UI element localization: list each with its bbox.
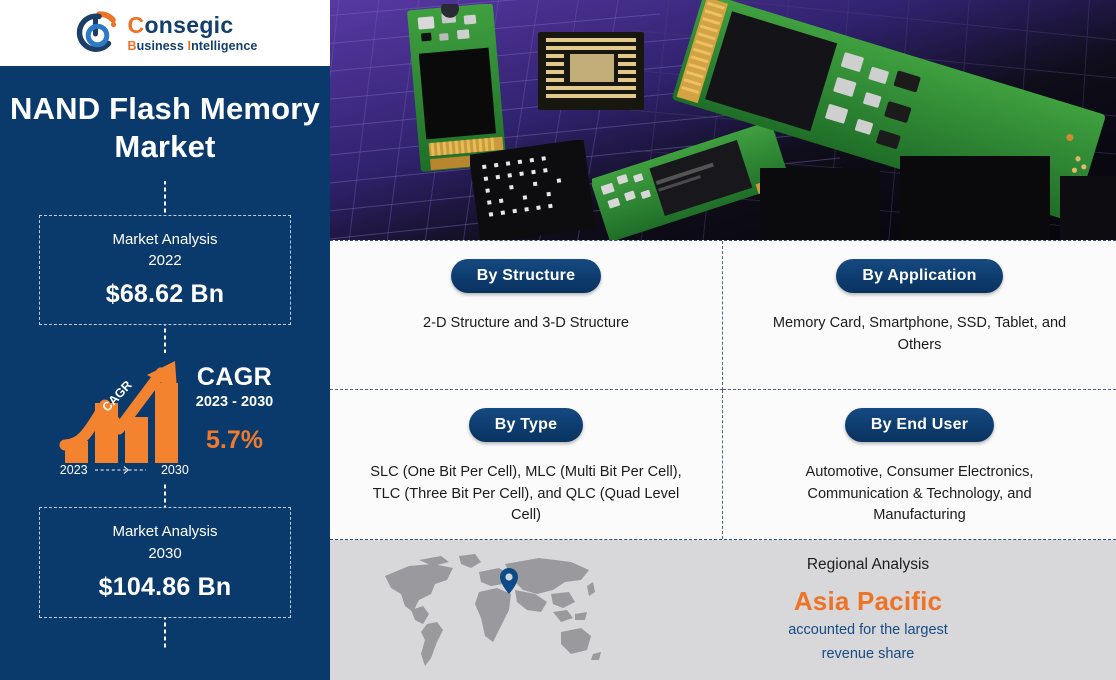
brand-name-rest: onsegic: [144, 12, 233, 38]
leading-region-name: Asia Pacific: [660, 586, 1076, 617]
map-pin-icon: [500, 568, 518, 594]
tagline-ntelligence: ntelligence: [191, 39, 257, 53]
connector-dots-1: [164, 181, 166, 215]
world-map-icon: [375, 550, 615, 670]
segmentation-grid: By Structure 2-D Structure and 3-D Struc…: [330, 240, 1116, 540]
consegic-b-logo-icon: [73, 10, 119, 56]
tagline-b: B: [128, 39, 137, 53]
regional-analysis-text: Regional Analysis Asia Pacific accounted…: [660, 556, 1116, 664]
leading-region-note-line2: revenue share: [660, 644, 1076, 665]
leading-region-note-line1: accounted for the largest: [660, 620, 1076, 641]
regional-analysis-section: Regional Analysis Asia Pacific accounted…: [330, 540, 1116, 680]
segment-desc-end-user: Automotive, Consumer Electronics, Commun…: [760, 462, 1080, 527]
brand-wordmark: Consegic Business Intelligence: [128, 14, 258, 53]
regional-analysis-title: Regional Analysis: [660, 556, 1076, 574]
forecast-year-label: Market Analysis: [46, 521, 284, 542]
segment-card-structure: By Structure 2-D Structure and 3-D Struc…: [330, 241, 723, 390]
brand-tagline: Business Intelligence: [128, 40, 258, 53]
left-summary-column: Consegic Business Intelligence NAND Flas…: [0, 0, 330, 680]
segment-card-end-user: By End User Automotive, Consumer Electro…: [723, 390, 1116, 539]
connector-dots-2: [164, 325, 166, 353]
segment-desc-structure: 2-D Structure and 3-D Structure: [423, 313, 629, 335]
segment-card-application: By Application Memory Card, Smartphone, …: [723, 241, 1116, 390]
cagr-axis-start: 2023: [60, 463, 88, 477]
page-title: NAND Flash Memory Market: [0, 90, 330, 167]
cagr-arrow-icon: [94, 465, 154, 475]
segment-pill-end-user[interactable]: By End User: [845, 408, 994, 442]
segment-pill-application[interactable]: By Application: [836, 259, 1002, 293]
brand-name: Consegic: [128, 14, 258, 37]
segment-desc-type: SLC (One Bit Per Cell), MLC (Multi Bit P…: [366, 462, 686, 527]
segment-card-type: By Type SLC (One Bit Per Cell), MLC (Mul…: [330, 390, 723, 539]
segment-desc-application: Memory Card, Smartphone, SSD, Tablet, an…: [760, 313, 1080, 356]
forecast-year-value: $104.86 Bn: [46, 573, 284, 602]
connector-dots-4: [164, 618, 166, 648]
base-year-stat-box: Market Analysis 2022 $68.62 Bn: [39, 215, 291, 326]
flash-die-dark: [470, 140, 600, 240]
hero-image: [330, 0, 1116, 240]
cagr-period: 2023 - 2030: [196, 394, 273, 410]
brand-logo-bar: Consegic Business Intelligence: [0, 0, 330, 66]
forecast-year-stat-box: Market Analysis 2030 $104.86 Bn: [39, 507, 291, 618]
base-year-value: $68.62 Bn: [46, 280, 284, 309]
tagline-usiness: usiness: [137, 39, 188, 53]
right-content-column: By Structure 2-D Structure and 3-D Struc…: [330, 0, 1116, 680]
cagr-growth-chart-icon: CAGR 2023 2030: [57, 353, 192, 473]
cagr-block: CAGR 2023 2030 CAGR 2023 - 2030 5.7%: [0, 353, 330, 473]
base-year-label: Market Analysis: [46, 229, 284, 250]
brand-name-initial: C: [128, 12, 145, 38]
nand-chip-package: [536, 30, 648, 114]
dark-modules-bottom-right: [760, 150, 1116, 240]
infographic-page: Consegic Business Intelligence NAND Flas…: [0, 0, 1116, 680]
cagr-title: CAGR: [196, 363, 273, 392]
world-map-wrapper: [330, 540, 660, 680]
forecast-year-year: 2030: [46, 543, 284, 564]
segment-pill-type[interactable]: By Type: [469, 408, 583, 442]
base-year-year: 2022: [46, 250, 284, 271]
connector-dots-3: [164, 483, 166, 507]
cagr-values: CAGR 2023 - 2030 5.7%: [196, 363, 273, 463]
cagr-value: 5.7%: [196, 426, 273, 455]
segment-pill-structure[interactable]: By Structure: [451, 259, 601, 293]
cagr-axis-end: 2030: [161, 463, 189, 477]
summary-panel: NAND Flash Memory Market Market Analysis…: [0, 66, 330, 680]
